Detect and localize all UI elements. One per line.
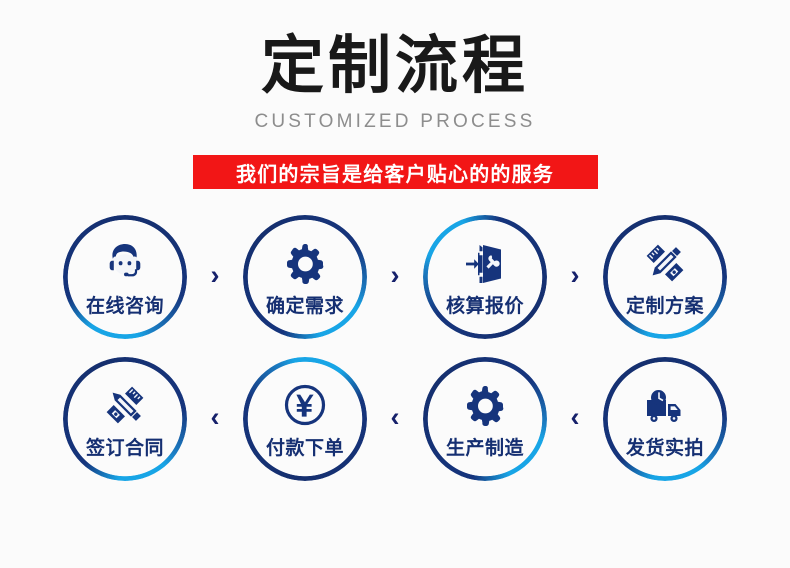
page-header: 定制流程 CUSTOMIZED PROCESS bbox=[0, 0, 790, 133]
pencil-ruler-icon bbox=[104, 382, 146, 426]
process-row-2: 签订合同 ‹ 付款下单 ‹ bbox=[0, 355, 790, 483]
step-label: 在线咨询 bbox=[86, 291, 164, 318]
step-payment-order[interactable]: 付款下单 bbox=[243, 357, 367, 481]
chevron-right-icon: › bbox=[547, 262, 603, 293]
step-online-consultation[interactable]: 在线咨询 bbox=[63, 215, 187, 339]
step-quote-calculation[interactable]: 核算报价 bbox=[423, 215, 547, 339]
delivery-truck-clock-icon bbox=[643, 382, 687, 426]
step-label: 确定需求 bbox=[266, 291, 344, 318]
step-sign-contract[interactable]: 签订合同 bbox=[63, 357, 187, 481]
pencil-ruler-icon bbox=[644, 240, 686, 284]
step-label: 定制方案 bbox=[626, 291, 704, 318]
chevron-left-icon: ‹ bbox=[367, 404, 423, 435]
step-production-manufacturing[interactable]: 生产制造 bbox=[423, 357, 547, 481]
chevron-left-icon: ‹ bbox=[187, 404, 243, 435]
chevron-right-icon: › bbox=[367, 262, 423, 293]
page-subtitle: CUSTOMIZED PROCESS bbox=[0, 111, 790, 133]
step-label: 发货实拍 bbox=[626, 433, 704, 460]
slogan-banner-wrapper: 我们的宗旨是给客户贴心的的服务 bbox=[0, 155, 790, 189]
step-label: 生产制造 bbox=[446, 433, 524, 460]
step-label: 付款下单 bbox=[266, 433, 344, 460]
quote-document-wrench-icon bbox=[464, 240, 506, 284]
slogan-banner: 我们的宗旨是给客户贴心的的服务 bbox=[193, 155, 598, 189]
step-label: 核算报价 bbox=[446, 291, 524, 318]
process-row-1: 在线咨询 › 确定需求 › bbox=[0, 213, 790, 341]
page-title: 定制流程 bbox=[0, 34, 790, 97]
step-shipping-photos[interactable]: 发货实拍 bbox=[603, 357, 727, 481]
gear-icon bbox=[465, 382, 505, 426]
step-confirm-requirements[interactable]: 确定需求 bbox=[243, 215, 367, 339]
customer-service-agent-icon bbox=[103, 240, 147, 284]
yuan-currency-circle-icon bbox=[284, 382, 326, 426]
chevron-left-icon: ‹ bbox=[547, 404, 603, 435]
process-steps: 在线咨询 › 确定需求 › bbox=[0, 213, 790, 483]
step-custom-solution[interactable]: 定制方案 bbox=[603, 215, 727, 339]
chevron-right-icon: › bbox=[187, 262, 243, 293]
step-label: 签订合同 bbox=[86, 433, 164, 460]
slogan-text: 我们的宗旨是给客户贴心的的服务 bbox=[236, 158, 554, 187]
gear-icon bbox=[285, 240, 325, 284]
